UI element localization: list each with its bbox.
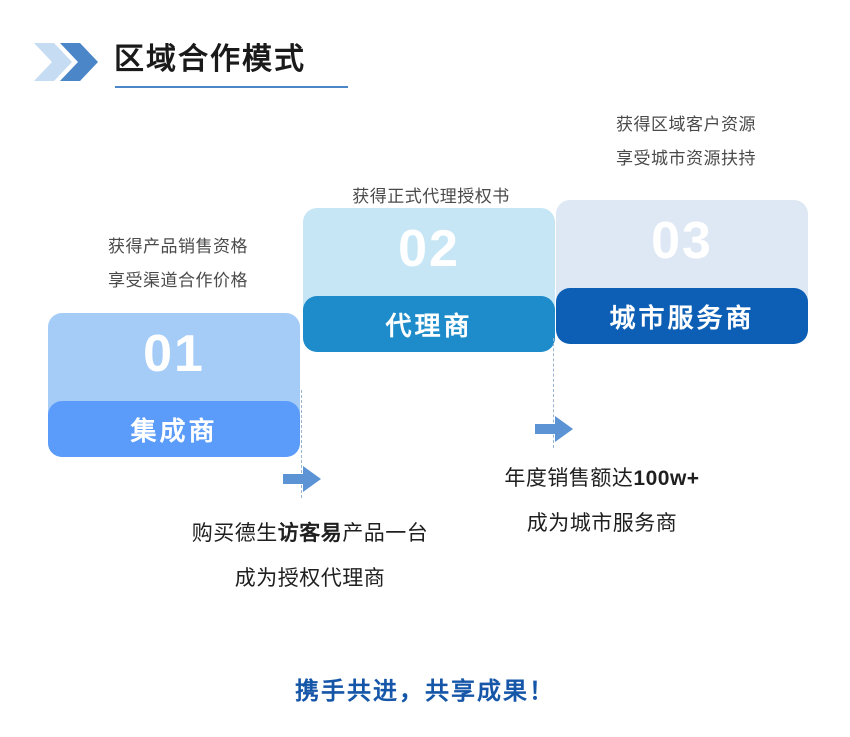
requirement-note-01: 购买德生访客易产品一台 成为授权代理商 [150,511,470,601]
arrow-right-icon [535,416,573,442]
step-01-number: 01 [48,323,300,385]
step-03-caption-line-2: 享受城市资源扶持 [556,142,816,176]
step-03-number: 03 [556,210,808,272]
page-title-wrap: 区域合作模式 [114,40,306,80]
step-02-number: 02 [303,218,555,280]
step-01-caption: 获得产品销售资格 享受渠道合作价格 [48,230,308,298]
requirement-note-02: 年度销售额达100w+ 成为城市服务商 [452,456,752,546]
page-title: 区域合作模式 [114,40,306,80]
step-03-label: 城市服务商 [556,288,808,344]
requirement-01-line-1: 购买德生访客易产品一台 [150,511,470,556]
step-01-caption-line-1: 获得产品销售资格 [48,230,308,264]
step-02-label: 代理商 [303,296,555,352]
requirement-02-prefix: 年度销售额达 [504,467,633,490]
footer-tagline: 携手共进，共享成果！ [0,671,850,706]
requirement-02-bold: 100w+ [633,467,699,490]
requirement-01-suffix: 产品一台 [342,522,428,545]
requirement-01-line-2: 成为授权代理商 [150,556,470,601]
infographic-canvas: 区域合作模式 获得产品销售资格 享受渠道合作价格 01 集成商 获得正式代理授权… [0,0,850,737]
step-01-caption-line-2: 享受渠道合作价格 [48,264,308,298]
double-chevron-right-icon [34,43,98,81]
arrow-right-icon [283,466,321,492]
requirement-01-bold: 访客易 [278,522,343,545]
step-02-card[interactable]: 02 代理商 [303,208,555,352]
requirement-01-prefix: 购买德生 [192,522,278,545]
step-01-card[interactable]: 01 集成商 [48,313,300,457]
step-03-caption-line-1: 获得区域客户资源 [556,108,816,142]
requirement-02-line-2: 成为城市服务商 [452,501,752,546]
step-01-label: 集成商 [48,401,300,457]
step-03-card[interactable]: 03 城市服务商 [556,200,808,344]
title-underline [115,86,348,88]
requirement-02-line-1: 年度销售额达100w+ [452,456,752,501]
step-03-caption: 获得区域客户资源 享受城市资源扶持 [556,108,816,176]
header: 区域合作模式 [0,0,850,110]
